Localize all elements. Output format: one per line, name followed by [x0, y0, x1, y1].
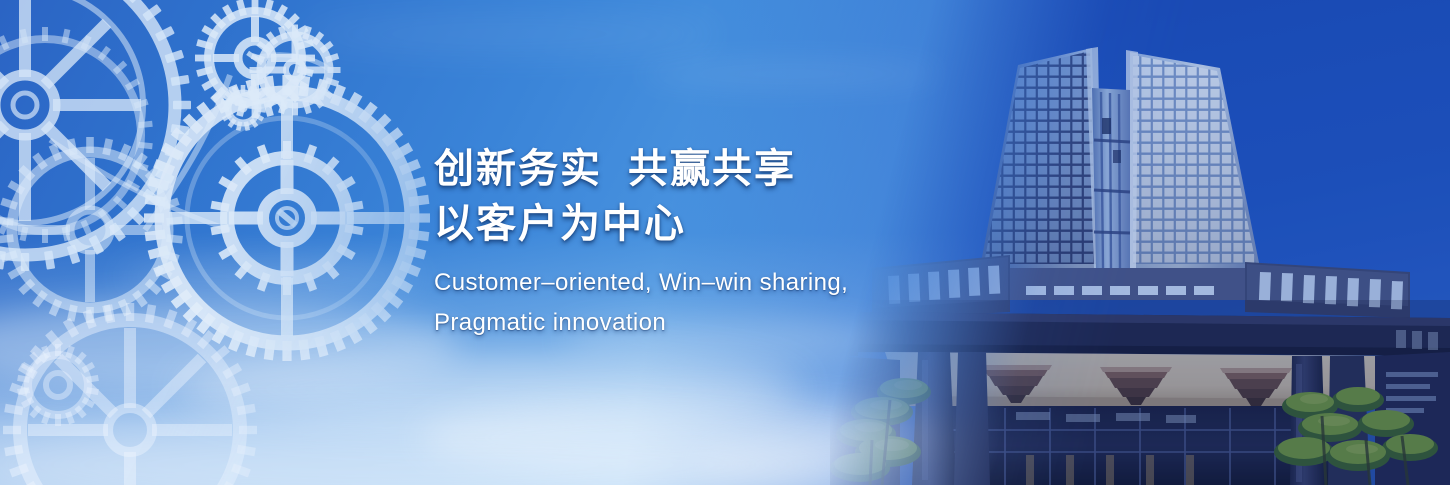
subtitle-line-2: Pragmatic innovation [434, 303, 1054, 343]
headline-line-2: 以客户为中心 [434, 197, 1054, 252]
headline-block: 创新务实共赢共享 以客户为中心 Customer–oriented, Win–w… [434, 142, 1054, 343]
headline-line-1: 创新务实共赢共享 [434, 142, 1054, 197]
corporate-banner: 创新务实共赢共享 以客户为中心 Customer–oriented, Win–w… [0, 0, 1450, 485]
headline-phrase-2: 共赢共享 [628, 147, 796, 191]
subtitle-line-1: Customer–oriented, Win–win sharing, [434, 263, 1054, 303]
subtitle-block: Customer–oriented, Win–win sharing, Prag… [434, 263, 1054, 343]
headline-phrase-1: 创新务实 [434, 147, 602, 191]
